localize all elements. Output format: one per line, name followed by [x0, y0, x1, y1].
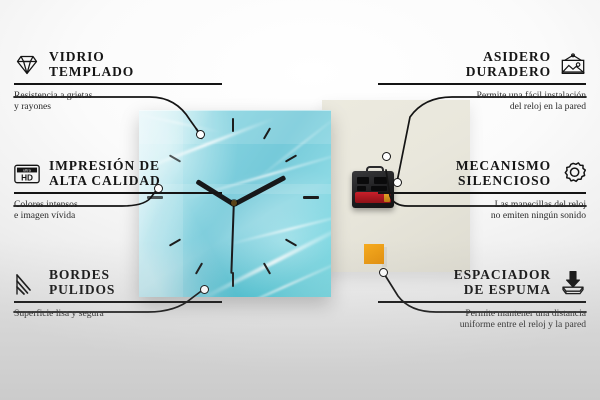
feature-divider [378, 83, 586, 85]
polished-edges-icon [14, 270, 40, 296]
feature-title: BORDES PULIDOS [49, 268, 115, 297]
ultra-hd-icon: ultra HD [14, 161, 40, 187]
clock-tick [285, 238, 297, 246]
feature-divider [378, 192, 586, 194]
infographic-canvas: VIDRIO TEMPLADO Resistencia a grietas y … [0, 0, 600, 400]
svg-text:HD: HD [21, 173, 33, 182]
foam-spacer-icon [560, 270, 586, 296]
feature-title: ESPACIADOR DE ESPUMA [454, 268, 551, 297]
clock-tick [232, 272, 234, 287]
feature-subtitle: Las manecillas del reloj no emiten ningú… [378, 199, 586, 222]
feature-impresion-alta-calidad: ultra HD IMPRESIÓN DE ALTA CALIDAD Color… [14, 159, 222, 222]
feature-title: VIDRIO TEMPLADO [49, 50, 134, 79]
feature-divider [14, 192, 222, 194]
gear-icon [560, 161, 586, 187]
wall-hanger-icon [560, 52, 586, 78]
feature-subtitle: Superficie lisa y segura [14, 308, 222, 320]
diamond-icon [14, 52, 40, 78]
feature-title: MECANISMO SILENCIOSO [456, 159, 551, 188]
feature-divider [378, 301, 586, 303]
foam-spacer-top [364, 244, 384, 264]
feature-divider [14, 83, 222, 85]
clock-tick [232, 118, 234, 132]
feature-subtitle: Permite mantener una distancia uniforme … [378, 308, 586, 331]
feature-bordes-pulidos: BORDES PULIDOS Superficie lisa y segura [14, 268, 222, 319]
feature-vidrio-templado: VIDRIO TEMPLADO Resistencia a grietas y … [14, 50, 222, 113]
feature-title: ASIDERO DURADERO [466, 50, 551, 79]
foam-spacer [364, 244, 384, 264]
clock-center-hub [231, 200, 237, 206]
feature-subtitle: Colores intensos e imagen vívida [14, 199, 222, 222]
feature-title: IMPRESIÓN DE ALTA CALIDAD [49, 159, 161, 188]
feature-mecanismo-silencioso: MECANISMO SILENCIOSO Las manecillas del … [378, 159, 586, 222]
clock-tick [303, 196, 319, 199]
feature-subtitle: Resistencia a grietas y rayones [14, 90, 222, 113]
clock-second-hand [231, 204, 235, 274]
connector-dot-vidrio-templado [196, 130, 205, 139]
feature-divider [14, 301, 222, 303]
feature-espaciador-de-espuma: ESPACIADOR DE ESPUMA Permite mantener un… [378, 268, 586, 331]
feature-subtitle: Permite una fácil instalación del reloj … [378, 90, 586, 113]
svg-text:ultra: ultra [23, 167, 32, 172]
feature-asidero-duradero: ASIDERO DURADERO Permite una fácil insta… [378, 50, 586, 113]
